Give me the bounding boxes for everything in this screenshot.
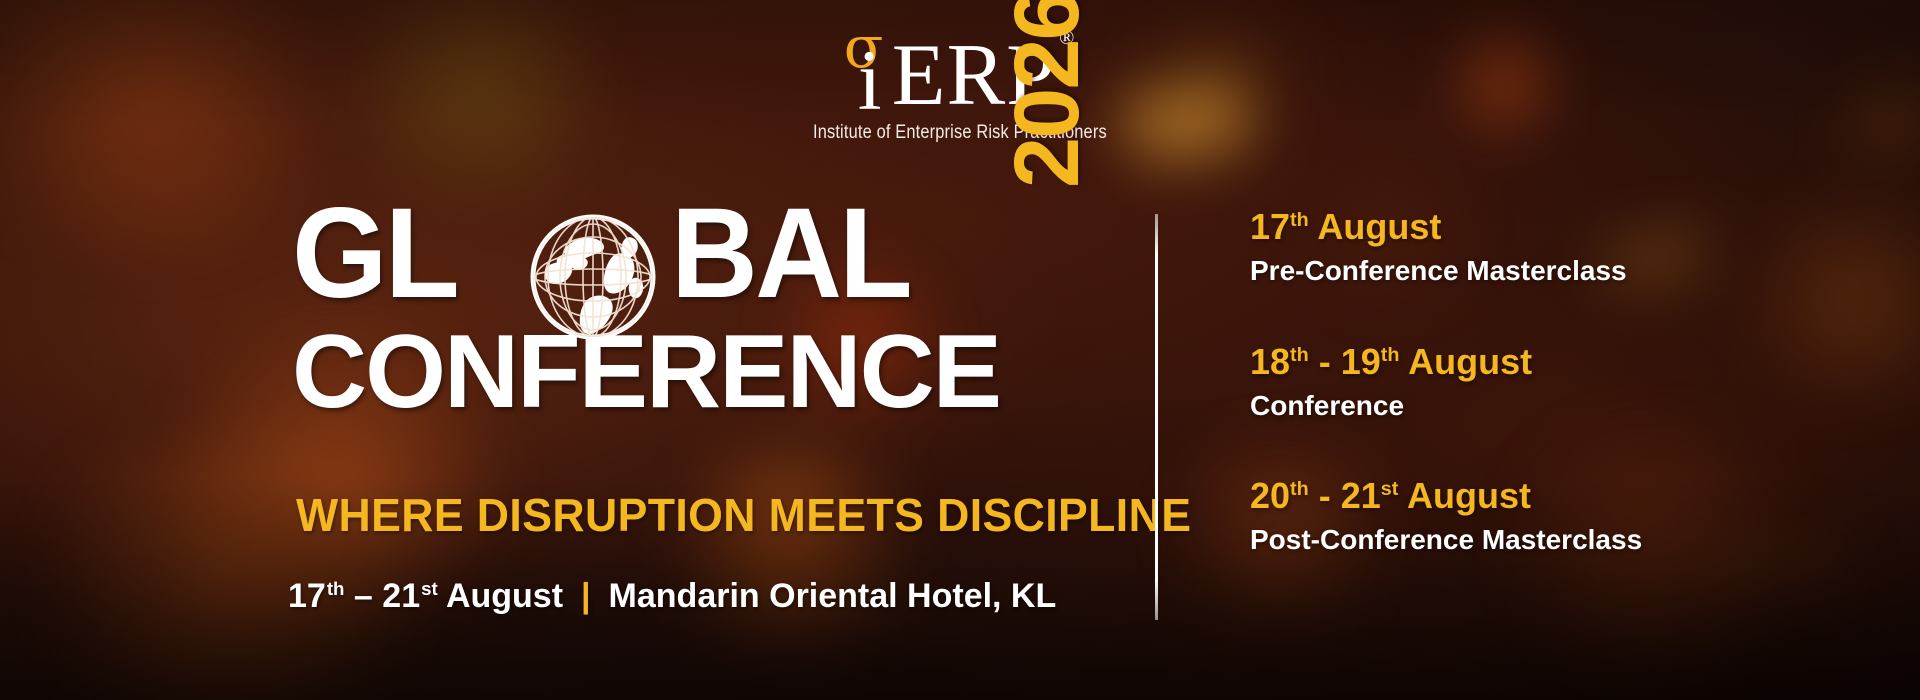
headline-line-global: GL <box>292 202 1112 322</box>
schedule-item: 18th - 19th August Conference <box>1250 343 1870 422</box>
schedule-item-date: 20th - 21st August <box>1250 477 1870 516</box>
headline-tagline: WHERE DISRUPTION MEETS DISCIPLINE <box>296 492 1191 538</box>
headline-block: GL <box>292 202 1112 415</box>
ierp-logo-i-group: σ i <box>846 22 894 114</box>
schedule-item-label: Pre-Conference Masterclass <box>1250 256 1870 287</box>
schedule-list: 17th August Pre-Conference Masterclass 1… <box>1250 208 1870 556</box>
schedule-item-label: Conference <box>1250 391 1870 422</box>
headline-line-conference: CONFERENCE <box>292 330 1112 415</box>
headline-global-gl: GL <box>292 202 457 307</box>
event-venue: Mandarin Oriental Hotel, KL <box>609 578 1057 615</box>
schedule-item: 20th - 21st August Post-Conference Maste… <box>1250 477 1870 556</box>
schedule-item: 17th August Pre-Conference Masterclass <box>1250 208 1870 287</box>
schedule-item-date: 18th - 19th August <box>1250 343 1870 382</box>
ierp-logo: σ i ERP ® Institute of Enterprise Risk P… <box>0 22 1920 144</box>
event-date: 17th – 21st August <box>288 578 563 615</box>
date-venue-separator: | <box>581 578 591 615</box>
ierp-logo-letter-i: i <box>858 45 882 116</box>
vertical-divider <box>1155 214 1158 620</box>
schedule-item-label: Post-Conference Masterclass <box>1250 525 1870 556</box>
headline-year: 2026 <box>1001 0 1093 188</box>
headline-global-bal: BAL <box>671 202 910 307</box>
event-date-venue: 17th – 21st August | Mandarin Oriental H… <box>288 578 1056 615</box>
conference-banner: σ i ERP ® Institute of Enterprise Risk P… <box>0 0 1920 700</box>
schedule-item-date: 17th August <box>1250 208 1870 247</box>
globe-icon <box>530 214 656 340</box>
